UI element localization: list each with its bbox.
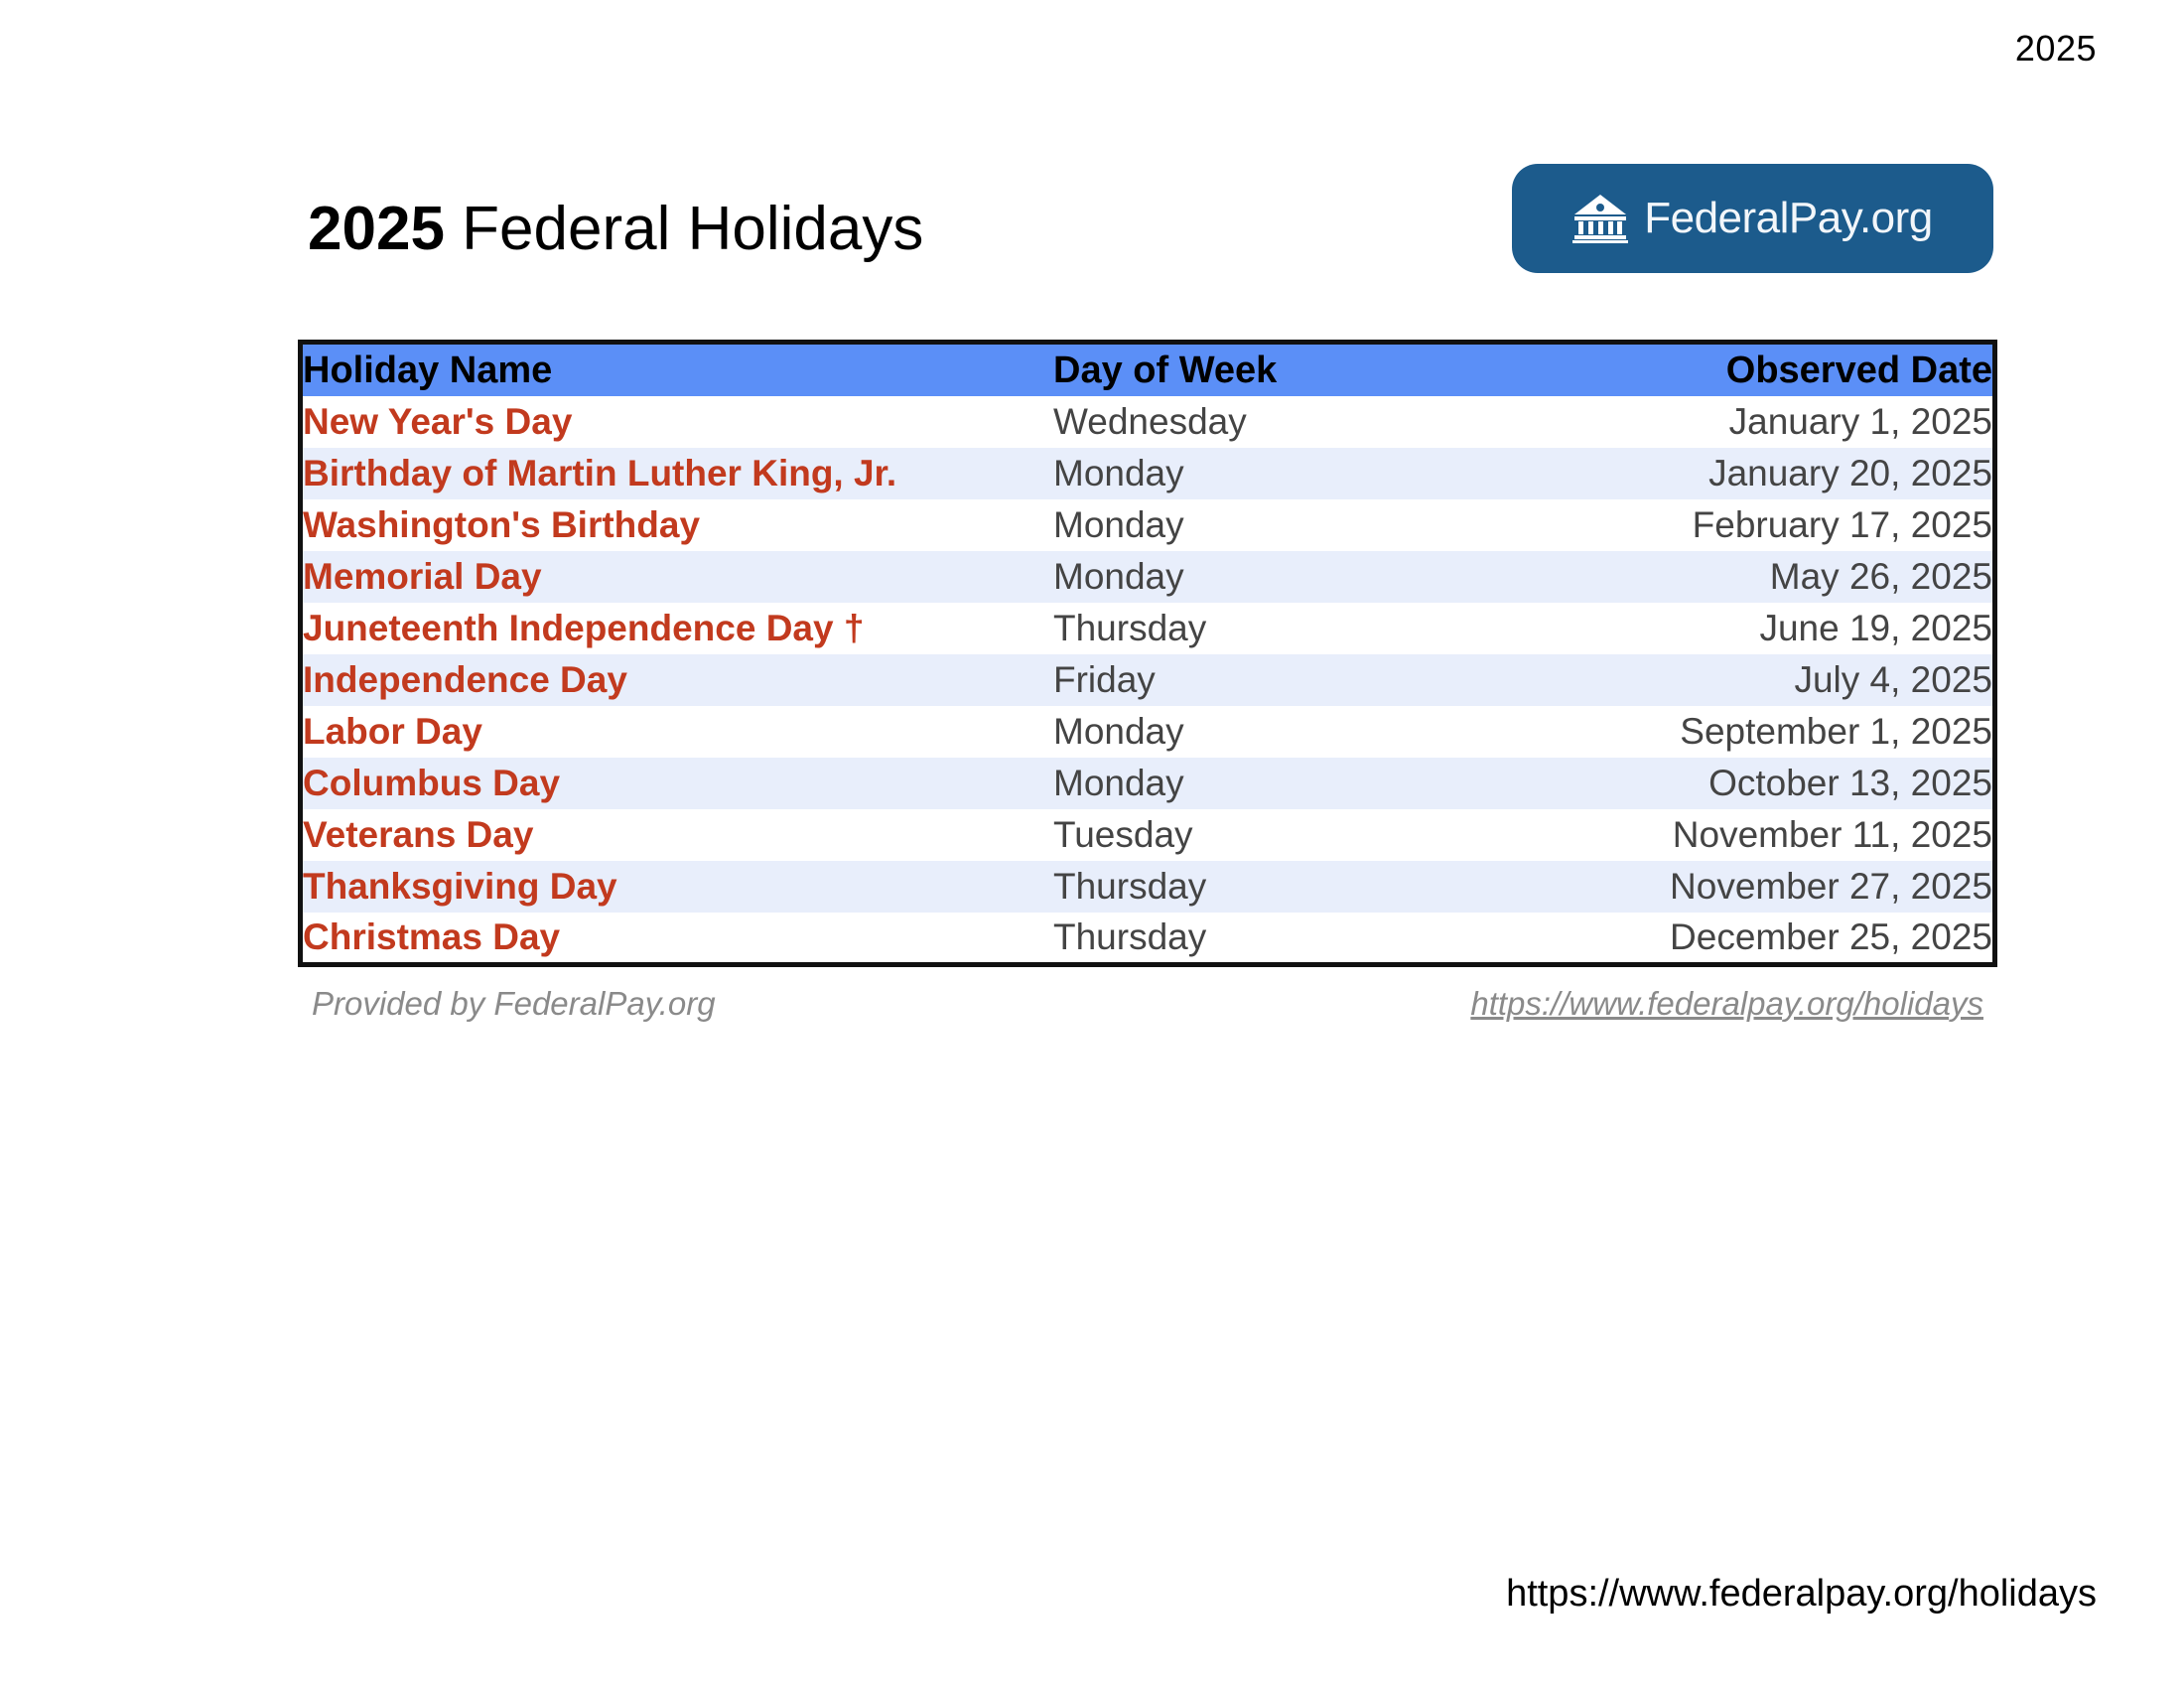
cell-day-of-week: Monday [1053,499,1480,551]
cell-observed-date: September 1, 2025 [1480,706,1995,758]
cell-observed-date: February 17, 2025 [1480,499,1995,551]
cell-day-of-week: Monday [1053,551,1480,603]
table-row: Thanksgiving Day Thursday November 27, 2… [301,861,1995,913]
table-header: Holiday Name Day of Week Observed Date [301,343,1995,397]
document-header: 2025 Federal Holidays FederalPay.org [298,179,1997,328]
table-body: New Year's Day Wednesday January 1, 2025… [301,396,1995,964]
table-row: Independence Day Friday July 4, 2025 [301,654,1995,706]
cell-day-of-week: Wednesday [1053,396,1480,448]
cell-day-of-week: Monday [1053,706,1480,758]
page-title-year: 2025 [308,195,445,263]
column-header-observed-date[interactable]: Observed Date [1480,343,1995,397]
table-row: Memorial Day Monday May 26, 2025 [301,551,1995,603]
cell-day-of-week: Thursday [1053,913,1480,964]
footer-provided-by: Provided by FederalPay.org [312,985,716,1023]
table-row: Birthday of Martin Luther King, Jr. Mond… [301,448,1995,499]
cell-day-of-week: Tuesday [1053,809,1480,861]
page-title-rest: Federal Holidays [445,195,923,263]
table-row: Christmas Day Thursday December 25, 2025 [301,913,1995,964]
cell-observed-date: July 4, 2025 [1480,654,1995,706]
cell-holiday-name: Washington's Birthday [301,499,1054,551]
cell-observed-date: January 1, 2025 [1480,396,1995,448]
page-corner-url: https://www.federalpay.org/holidays [1506,1573,2097,1616]
cell-observed-date: November 27, 2025 [1480,861,1995,913]
table-row: New Year's Day Wednesday January 1, 2025 [301,396,1995,448]
page-title: 2025 Federal Holidays [308,199,923,260]
cell-observed-date: January 20, 2025 [1480,448,1995,499]
federalpay-logo-badge[interactable]: FederalPay.org [1512,164,1993,273]
federalpay-logo-label: FederalPay.org [1644,197,1933,240]
cell-observed-date: November 11, 2025 [1480,809,1995,861]
holiday-sheet: 2025 Federal Holidays FederalPay.org Hol… [298,179,1997,1045]
footer-source-link[interactable]: https://www.federalpay.org/holidays [1470,985,1983,1023]
table-row: Labor Day Monday September 1, 2025 [301,706,1995,758]
table-row: Veterans Day Tuesday November 11, 2025 [301,809,1995,861]
table-header-row: Holiday Name Day of Week Observed Date [301,343,1995,397]
cell-holiday-name: Juneteenth Independence Day † [301,603,1054,654]
cell-observed-date: June 19, 2025 [1480,603,1995,654]
table-row: Washington's Birthday Monday February 17… [301,499,1995,551]
column-header-holiday-name[interactable]: Holiday Name [301,343,1054,397]
federal-holidays-table: Holiday Name Day of Week Observed Date N… [298,340,1997,967]
cell-holiday-name: Birthday of Martin Luther King, Jr. [301,448,1054,499]
cell-holiday-name: Veterans Day [301,809,1054,861]
cell-day-of-week: Monday [1053,448,1480,499]
column-header-day-of-week[interactable]: Day of Week [1053,343,1480,397]
bank-icon [1572,193,1628,244]
cell-day-of-week: Friday [1053,654,1480,706]
cell-day-of-week: Thursday [1053,861,1480,913]
cell-holiday-name: Memorial Day [301,551,1054,603]
cell-holiday-name: Labor Day [301,706,1054,758]
cell-holiday-name: Independence Day [301,654,1054,706]
table-row: Columbus Day Monday October 13, 2025 [301,758,1995,809]
cell-observed-date: October 13, 2025 [1480,758,1995,809]
cell-observed-date: December 25, 2025 [1480,913,1995,964]
cell-day-of-week: Monday [1053,758,1480,809]
table-footer: Provided by FederalPay.org https://www.f… [298,985,1997,1045]
table-row: Juneteenth Independence Day † Thursday J… [301,603,1995,654]
cell-observed-date: May 26, 2025 [1480,551,1995,603]
cell-day-of-week: Thursday [1053,603,1480,654]
cell-holiday-name: Christmas Day [301,913,1054,964]
cell-holiday-name: Thanksgiving Day [301,861,1054,913]
cell-holiday-name: New Year's Day [301,396,1054,448]
cell-holiday-name: Columbus Day [301,758,1054,809]
page-corner-year: 2025 [2015,28,2097,70]
